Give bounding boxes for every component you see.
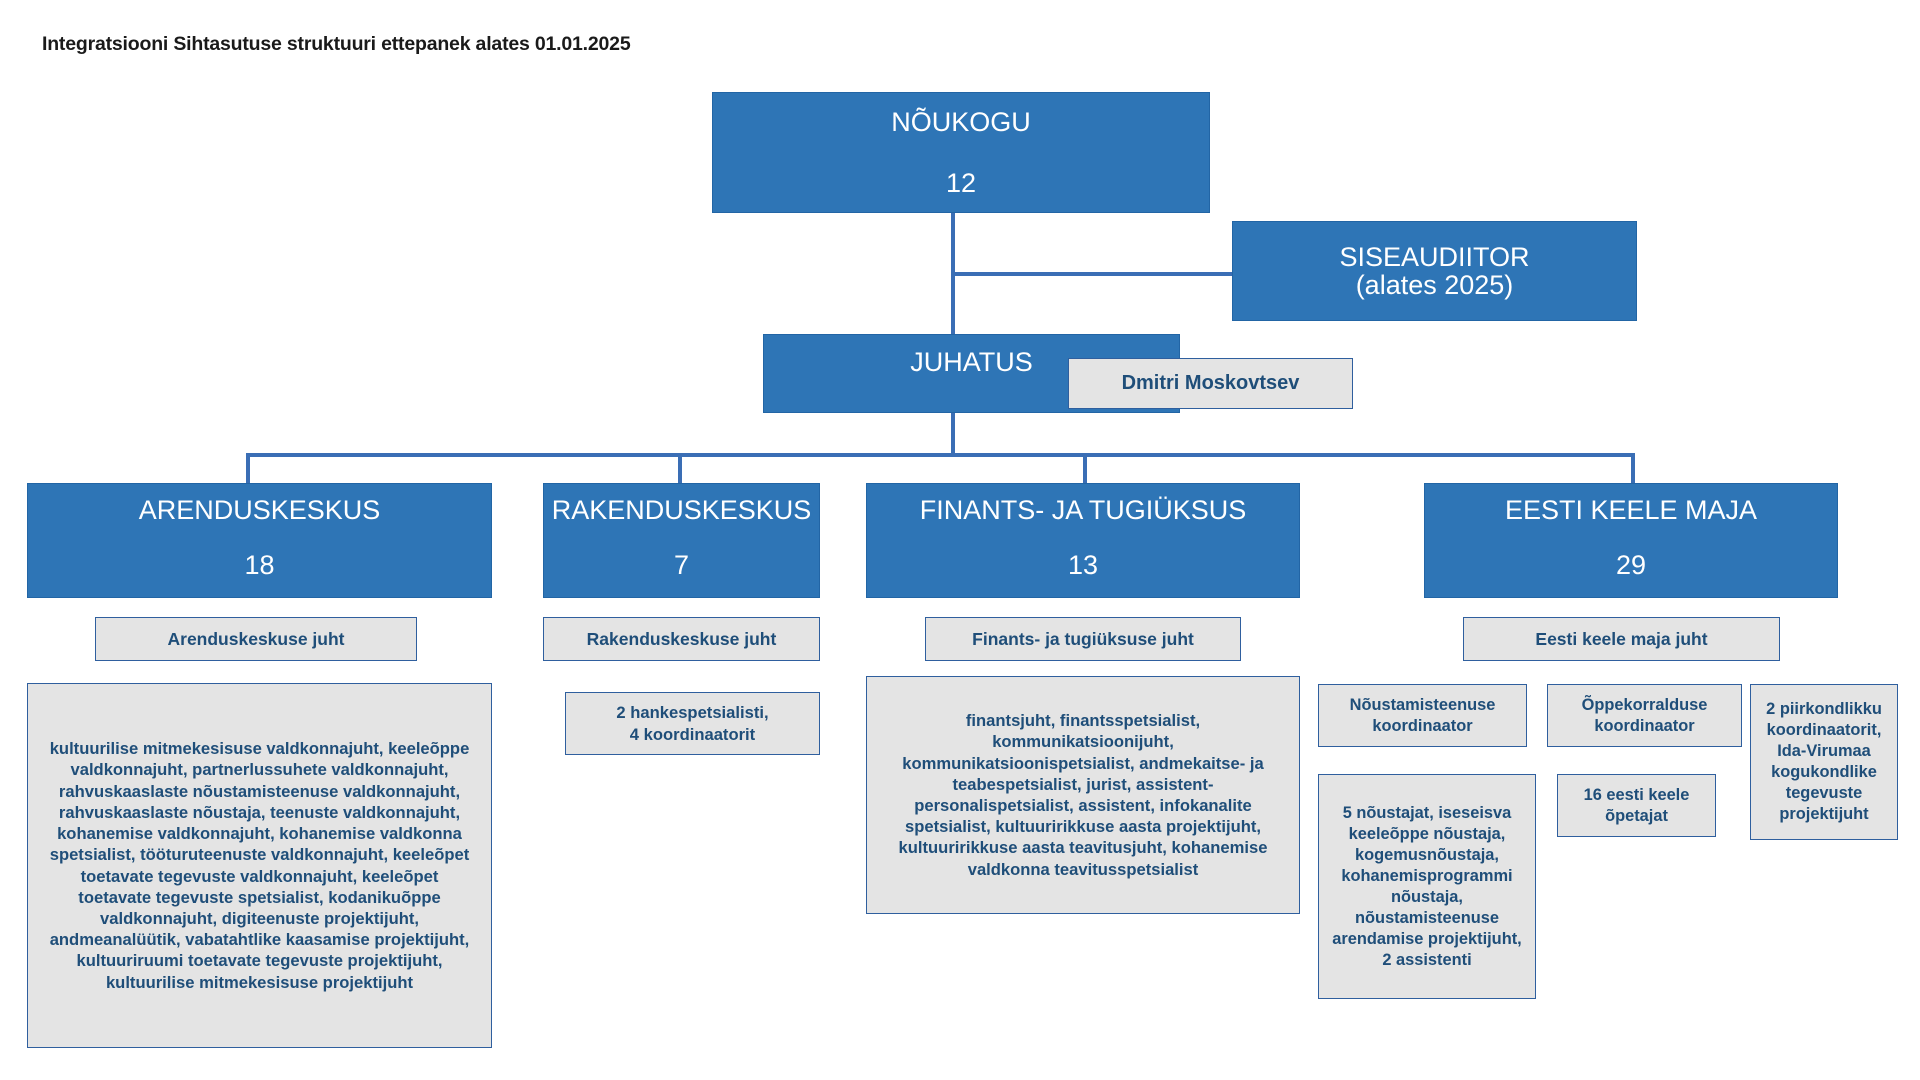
node-oppekorralduse-staff[interactable]: 16 eesti keele õpetajat: [1557, 774, 1716, 837]
node-eesti-keele-maja-count: 29: [1616, 550, 1646, 581]
node-oppekorralduse-staff-label: 16 eesti keele õpetajat: [1558, 785, 1715, 827]
node-finants-lead-label: Finants- ja tugiüksuse juht: [972, 628, 1194, 650]
node-finants-lead[interactable]: Finants- ja tugiüksuse juht: [925, 617, 1241, 661]
node-rakenduskeskus[interactable]: RAKENDUSKESKUS 7: [543, 483, 820, 598]
node-arenduskeskus-staff-label: kultuurilise mitmekesisuse valdkonnajuht…: [42, 738, 477, 993]
node-noukogu-title: NÕUKOGU: [891, 108, 1031, 136]
node-siseaudiitor[interactable]: SISEAUDIITOR (alates 2025): [1232, 221, 1637, 321]
connector-juhatus-down: [951, 412, 955, 455]
node-eesti-keele-maja-lead-label: Eesti keele maja juht: [1535, 628, 1707, 650]
node-noukogu[interactable]: NÕUKOGU 12: [712, 92, 1210, 213]
node-arenduskeskus-count: 18: [244, 550, 274, 581]
node-rakenduskeskus-staff-label: 2 hankespetsialisti, 4 koordinaatorit: [616, 702, 768, 744]
node-rakenduskeskus-lead-label: Rakenduskeskuse juht: [587, 628, 777, 650]
node-rakenduskeskus-title: RAKENDUSKESKUS: [552, 496, 812, 524]
node-noustamisteenuse-staff-label: 5 nõustajat, iseseisva keeleõppe nõustaj…: [1329, 803, 1525, 971]
node-rakenduskeskus-staff[interactable]: 2 hankespetsialisti, 4 koordinaatorit: [565, 692, 820, 755]
node-finants[interactable]: FINANTS- JA TUGIÜKSUS 13: [866, 483, 1300, 598]
node-arenduskeskus-lead-label: Arenduskeskuse juht: [168, 628, 345, 650]
node-eesti-keele-maja-lead[interactable]: Eesti keele maja juht: [1463, 617, 1780, 661]
node-juhatus-title: JUHATUS: [910, 348, 1033, 376]
node-piirkondlikud-staff-label: 2 piirkondlikku koordinaatorit, Ida-Viru…: [1759, 699, 1889, 825]
node-eesti-keele-maja[interactable]: EESTI KEELE MAJA 29: [1424, 483, 1838, 598]
node-oppekorralduse-lead-label: Õppekorralduse koordinaator: [1548, 695, 1741, 737]
node-arenduskeskus[interactable]: ARENDUSKESKUS 18: [27, 483, 492, 598]
connector-department-bus: [246, 453, 1635, 457]
node-noukogu-count: 12: [946, 168, 976, 199]
node-finants-staff-label: finantsjuht, finantsspetsialist, kommuni…: [879, 710, 1287, 880]
node-arenduskeskus-staff[interactable]: kultuurilise mitmekesisuse valdkonnajuht…: [27, 683, 492, 1048]
node-finants-count: 13: [1068, 550, 1098, 581]
connector-drop-arenduskeskus: [246, 453, 250, 483]
connector-noukogu-siseaudiitor: [951, 272, 1235, 276]
node-rakenduskeskus-lead[interactable]: Rakenduskeskuse juht: [543, 617, 820, 661]
page-title: Integratsiooni Sihtasutuse struktuuri et…: [42, 33, 630, 56]
node-juhatus-person-label: Dmitri Moskovtsev: [1122, 371, 1300, 397]
node-finants-title: FINANTS- JA TUGIÜKSUS: [920, 496, 1247, 524]
org-chart: Integratsiooni Sihtasutuse struktuuri et…: [0, 0, 1920, 1080]
node-noustamisteenuse-staff[interactable]: 5 nõustajat, iseseisva keeleõppe nõustaj…: [1318, 774, 1536, 999]
connector-drop-rakenduskeskus: [678, 453, 682, 483]
node-finants-staff[interactable]: finantsjuht, finantsspetsialist, kommuni…: [866, 676, 1300, 914]
node-piirkondlikud-staff[interactable]: 2 piirkondlikku koordinaatorit, Ida-Viru…: [1750, 684, 1898, 840]
node-rakenduskeskus-count: 7: [674, 550, 689, 581]
connector-drop-finants: [1083, 453, 1087, 483]
node-siseaudiitor-title: SISEAUDIITOR (alates 2025): [1339, 243, 1529, 300]
node-oppekorralduse-lead[interactable]: Õppekorralduse koordinaator: [1547, 684, 1742, 747]
node-noustamisteenuse-lead[interactable]: Nõustamisteenuse koordinaator: [1318, 684, 1527, 747]
node-juhatus-person[interactable]: Dmitri Moskovtsev: [1068, 358, 1353, 409]
connector-drop-eesti-keele-maja: [1631, 453, 1635, 483]
node-eesti-keele-maja-title: EESTI KEELE MAJA: [1505, 496, 1757, 524]
node-arenduskeskus-lead[interactable]: Arenduskeskuse juht: [95, 617, 417, 661]
node-arenduskeskus-title: ARENDUSKESKUS: [139, 496, 381, 524]
node-noustamisteenuse-lead-label: Nõustamisteenuse koordinaator: [1319, 695, 1526, 737]
